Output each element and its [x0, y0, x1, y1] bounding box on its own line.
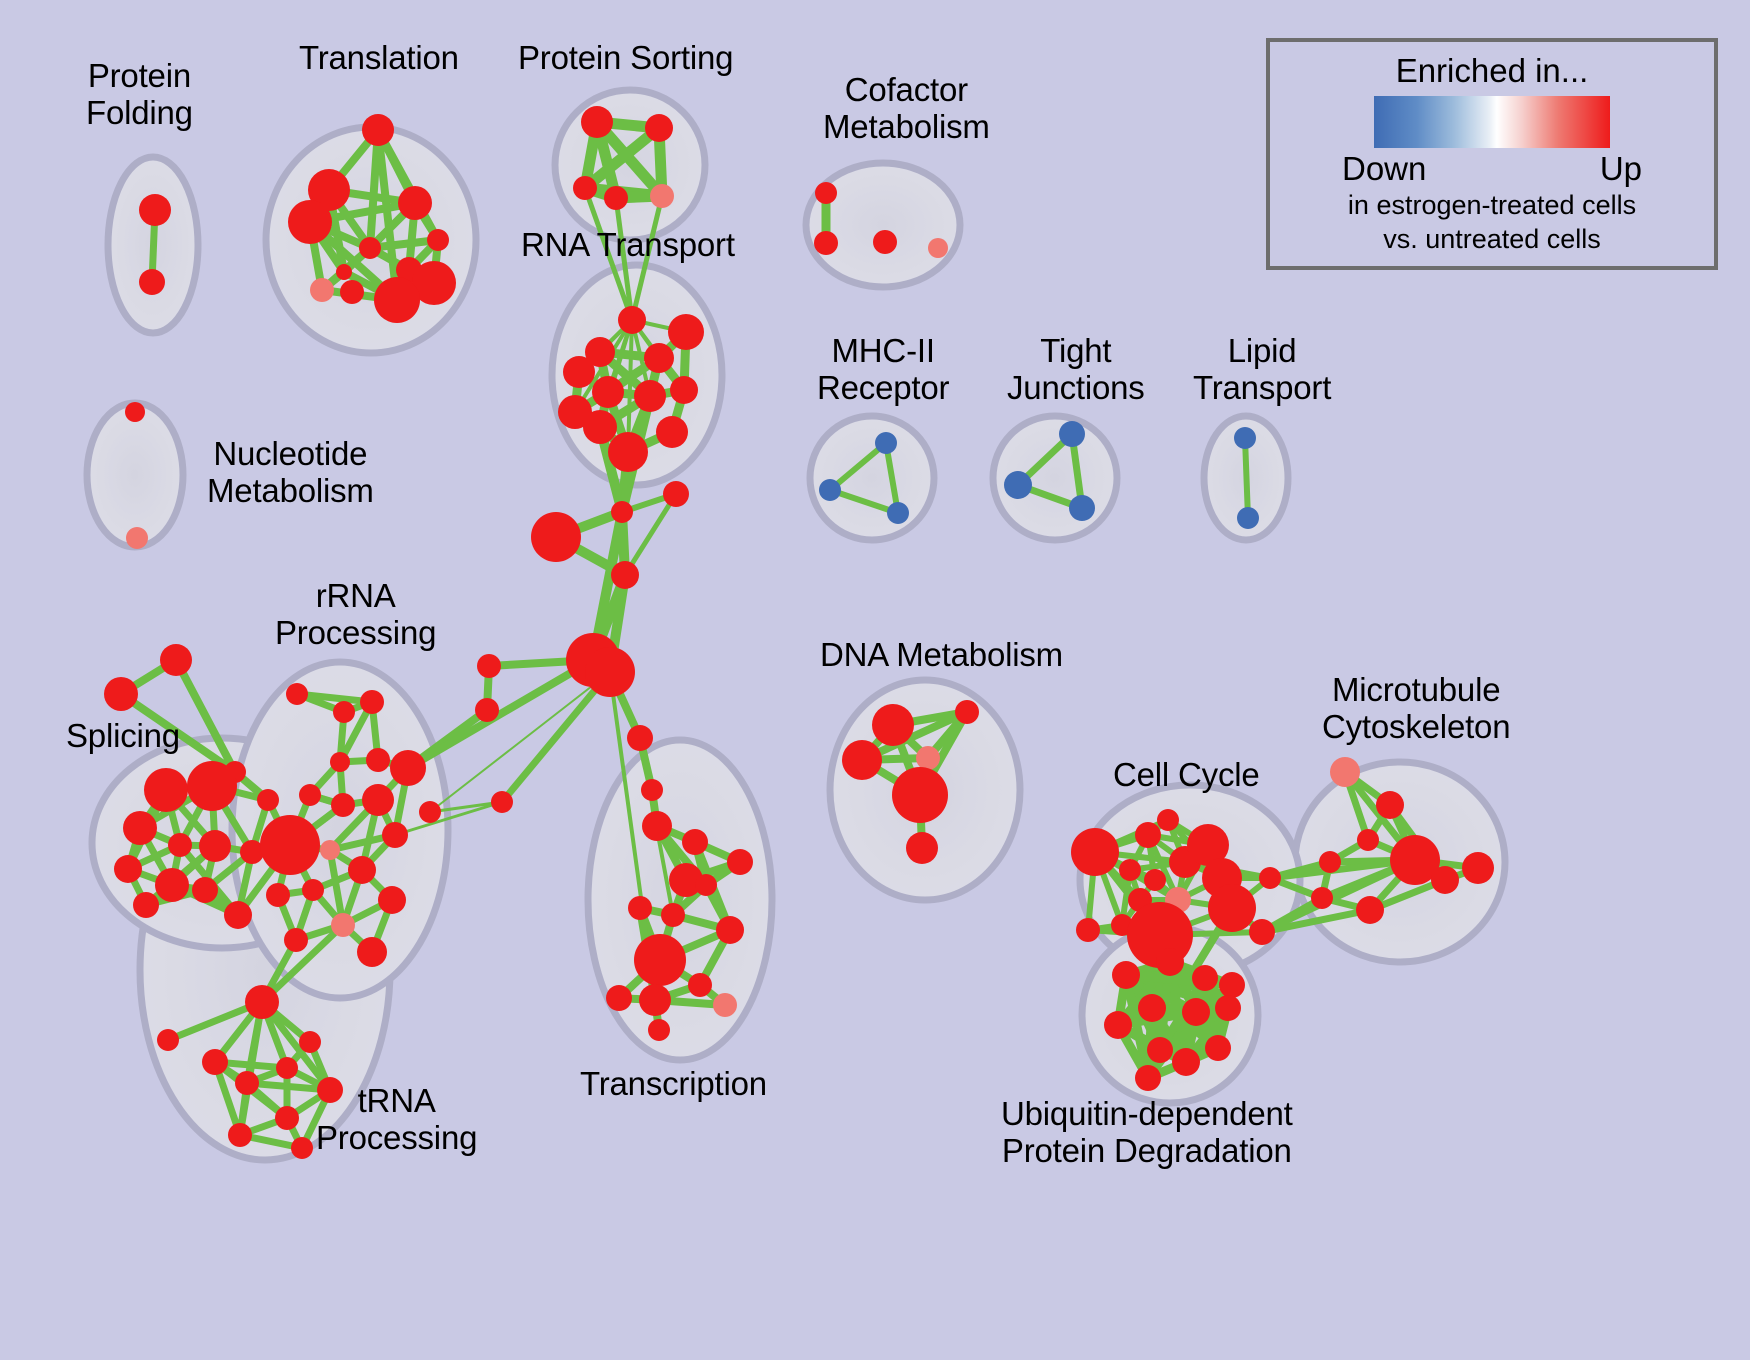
- node-up: [688, 973, 712, 997]
- node-up-mid: [713, 993, 737, 1017]
- node-up: [1249, 919, 1275, 945]
- node-down: [1237, 507, 1259, 529]
- node-up-mid: [331, 913, 355, 937]
- node-up: [491, 791, 513, 813]
- node-up: [228, 1123, 252, 1147]
- node-up-mid: [1330, 757, 1360, 787]
- node-up: [656, 416, 688, 448]
- node-down: [819, 479, 841, 501]
- node-up: [1208, 884, 1256, 932]
- node-up: [266, 883, 290, 907]
- enrichment-map-figure: Protein Folding Translation Protein Sort…: [0, 0, 1750, 1360]
- cluster-label-tight-junctions: Tight Junctions: [1007, 333, 1145, 407]
- node-up: [608, 432, 648, 472]
- node-up: [1205, 1035, 1231, 1061]
- node-up: [604, 186, 628, 210]
- node-up: [286, 683, 308, 705]
- node-up: [1157, 809, 1179, 831]
- cluster-label-nucleotide-metabolism: Nucleotide Metabolism: [207, 436, 374, 510]
- node-up: [378, 886, 406, 914]
- node-up: [1431, 866, 1459, 894]
- cluster-label-splicing: Splicing: [66, 718, 180, 755]
- node-up: [299, 784, 321, 806]
- node-down: [1069, 495, 1095, 521]
- node-up: [284, 928, 308, 952]
- cluster-label-cell-cycle: Cell Cycle: [1113, 757, 1260, 794]
- node-up: [144, 768, 188, 812]
- node-up: [906, 832, 938, 864]
- cluster-label-trna-processing: tRNA Processing: [316, 1083, 477, 1157]
- node-up: [475, 698, 499, 722]
- legend-caption-line2: vs. untreated cells: [1383, 224, 1601, 256]
- cluster-label-microtubule-cytoskeleton: Microtubule Cytoskeleton: [1322, 672, 1510, 746]
- node-up: [873, 230, 897, 254]
- cluster-label-translation: Translation: [299, 40, 459, 77]
- node-up: [202, 1049, 228, 1075]
- node-up: [641, 779, 663, 801]
- node-up: [670, 376, 698, 404]
- node-up: [531, 512, 581, 562]
- node-up: [639, 984, 671, 1016]
- node-up: [661, 903, 685, 927]
- node-up-mid: [916, 746, 940, 770]
- node-up: [1356, 896, 1384, 924]
- node-up: [1311, 887, 1333, 909]
- node-down: [1004, 471, 1032, 499]
- node-down: [1059, 421, 1085, 447]
- node-up: [260, 815, 320, 875]
- node-up: [155, 868, 189, 902]
- node-up: [291, 1137, 313, 1159]
- node-up: [133, 892, 159, 918]
- hull-nucleotide-metabolism: [87, 403, 183, 547]
- node-up: [302, 879, 324, 901]
- node-up: [362, 784, 394, 816]
- node-up: [139, 194, 171, 226]
- node-up-mid: [928, 238, 948, 258]
- node-up: [1156, 948, 1184, 976]
- node-up: [374, 277, 420, 323]
- node-up: [581, 106, 613, 138]
- node-up: [330, 752, 350, 772]
- node-up: [815, 182, 837, 204]
- node-up: [842, 740, 882, 780]
- node-up: [348, 856, 376, 884]
- node-up: [1357, 829, 1379, 851]
- node-up: [563, 356, 595, 388]
- node-up: [1076, 918, 1100, 942]
- node-up: [276, 1057, 298, 1079]
- node-up: [628, 896, 652, 920]
- node-up: [716, 916, 744, 944]
- node-up: [611, 501, 633, 523]
- node-up: [477, 654, 501, 678]
- node-up: [1112, 961, 1140, 989]
- node-up: [245, 985, 279, 1019]
- node-up: [663, 481, 689, 507]
- node-up: [1215, 995, 1241, 1021]
- cluster-label-protein-sorting: Protein Sorting: [518, 40, 733, 77]
- node-up: [1172, 1048, 1200, 1076]
- node-up: [634, 934, 686, 986]
- node-up: [668, 314, 704, 350]
- node-up: [695, 874, 717, 896]
- node-up: [585, 647, 635, 697]
- cluster-label-dna-metabolism: DNA Metabolism: [820, 637, 1063, 674]
- cluster-label-lipid-transport: Lipid Transport: [1193, 333, 1331, 407]
- cluster-label-transcription: Transcription: [580, 1066, 767, 1103]
- node-up: [359, 237, 381, 259]
- node-up: [618, 306, 646, 334]
- node-up: [1104, 1011, 1132, 1039]
- node-up: [340, 280, 364, 304]
- node-up: [573, 176, 597, 200]
- node-up: [160, 644, 192, 676]
- node-up: [382, 822, 408, 848]
- node-up: [814, 231, 838, 255]
- legend-title: Enriched in...: [1396, 52, 1589, 90]
- node-up: [157, 1029, 179, 1051]
- node-up: [627, 725, 653, 751]
- node-up: [606, 985, 632, 1011]
- node-up: [336, 264, 352, 280]
- node-up: [357, 937, 387, 967]
- node-up: [1135, 1065, 1161, 1091]
- cluster-label-cofactor-metabolism: Cofactor Metabolism: [823, 72, 990, 146]
- node-up-mid: [650, 184, 674, 208]
- legend-down-label: Down: [1342, 150, 1426, 188]
- cluster-label-protein-folding: Protein Folding: [86, 58, 193, 132]
- node-up: [592, 376, 624, 408]
- node-up: [427, 229, 449, 251]
- cluster-label-ubiquitin-protein-degradation: Ubiquitin-dependent Protein Degradation: [1001, 1096, 1293, 1170]
- node-up: [1219, 972, 1245, 998]
- node-up: [1138, 994, 1166, 1022]
- node-up: [257, 789, 279, 811]
- node-up: [168, 833, 192, 857]
- node-up: [390, 750, 426, 786]
- node-up: [727, 849, 753, 875]
- node-up: [644, 343, 674, 373]
- node-up: [398, 186, 432, 220]
- hull-mhc-ii-receptor: [810, 416, 934, 540]
- node-up: [123, 811, 157, 845]
- node-up: [235, 1071, 259, 1095]
- node-up: [362, 114, 394, 146]
- node-up: [892, 767, 948, 823]
- node-up: [125, 402, 145, 422]
- node-up: [275, 1106, 299, 1130]
- node-down: [887, 502, 909, 524]
- node-up: [360, 690, 384, 714]
- node-up: [1147, 1037, 1173, 1063]
- node-up: [187, 761, 237, 811]
- node-up: [1192, 965, 1218, 991]
- node-up: [333, 701, 355, 723]
- node-up: [199, 830, 231, 862]
- node-up: [1319, 851, 1341, 873]
- legend-up-label: Up: [1600, 150, 1642, 188]
- node-up: [366, 748, 390, 772]
- node-down: [1234, 427, 1256, 449]
- node-up: [139, 269, 165, 295]
- node-up-mid: [320, 840, 340, 860]
- node-up: [224, 901, 252, 929]
- node-up: [682, 829, 708, 855]
- node-up: [955, 700, 979, 724]
- node-up: [114, 855, 142, 883]
- node-up: [299, 1031, 321, 1053]
- node-up: [583, 410, 617, 444]
- node-up: [1376, 791, 1404, 819]
- node-up: [611, 561, 639, 589]
- node-up: [1135, 822, 1161, 848]
- node-up: [419, 801, 441, 823]
- cluster-label-rrna-processing: rRNA Processing: [275, 578, 436, 652]
- node-up: [1259, 867, 1281, 889]
- node-up: [104, 677, 138, 711]
- node-up: [645, 114, 673, 142]
- legend-color-bar: [1374, 96, 1610, 148]
- node-up: [648, 1019, 670, 1041]
- node-up: [642, 811, 672, 841]
- node-up: [1144, 869, 1166, 891]
- node-up: [872, 704, 914, 746]
- node-up-mid: [126, 527, 148, 549]
- node-up: [1119, 859, 1141, 881]
- node-up: [1462, 852, 1494, 884]
- node-up: [634, 380, 666, 412]
- legend-caption-line1: in estrogen-treated cells: [1348, 190, 1636, 222]
- cluster-label-mhc-ii-receptor: MHC-II Receptor: [817, 333, 949, 407]
- node-up: [192, 877, 218, 903]
- node-up: [1182, 998, 1210, 1026]
- node-down: [875, 432, 897, 454]
- node-up-mid: [310, 278, 334, 302]
- node-up: [331, 793, 355, 817]
- legend-panel: Enriched in... Down Up in estrogen-treat…: [1266, 38, 1718, 270]
- node-up: [1071, 828, 1119, 876]
- node-up: [288, 200, 332, 244]
- cluster-label-rna-transport: RNA Transport: [521, 227, 735, 264]
